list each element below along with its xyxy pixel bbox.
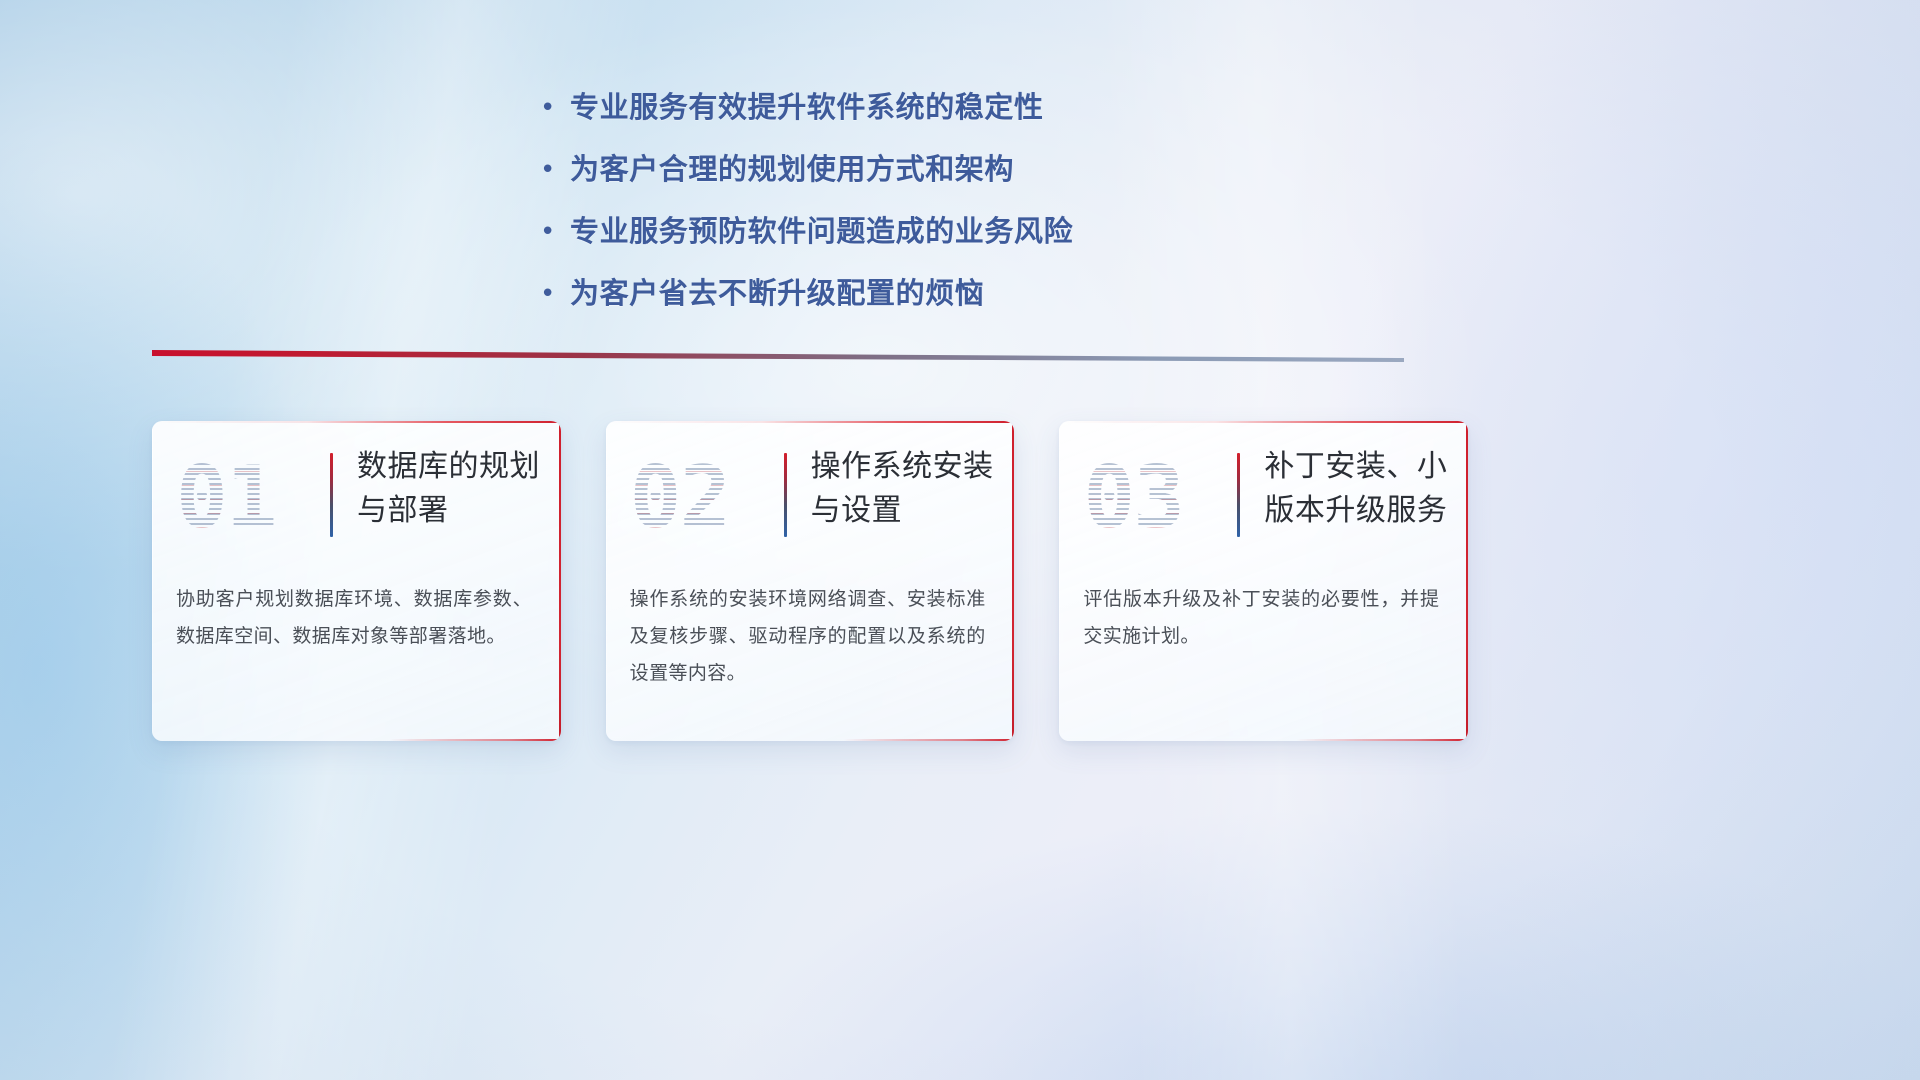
card-title: 操作系统安装与设置 bbox=[811, 445, 1007, 533]
list-item-label: 为客户省去不断升级配置的烦恼 bbox=[570, 274, 984, 314]
list-item: • 专业服务预防软件问题造成的业务风险 bbox=[540, 212, 1380, 252]
service-card-row: 01 01 数据库的规划与部署 协助客户规划数据库环境、数据库参数、数据库空间、… bbox=[152, 421, 1468, 741]
service-card[interactable]: 03 03 补丁安装、小版本升级服务 评估版本升级及补丁安装的必要性，并提交实施… bbox=[1059, 421, 1468, 741]
list-item-label: 为客户合理的规划使用方式和架构 bbox=[570, 150, 1014, 190]
list-item: • 专业服务有效提升软件系统的稳定性 bbox=[540, 88, 1380, 128]
card-header: 01 01 数据库的规划与部署 bbox=[152, 439, 561, 557]
list-item: • 为客户省去不断升级配置的烦恼 bbox=[540, 274, 1380, 314]
card-header: 03 03 补丁安装、小版本升级服务 bbox=[1059, 439, 1468, 557]
bullet-dot-icon: • bbox=[540, 150, 570, 190]
card-description: 协助客户规划数据库环境、数据库参数、数据库空间、数据库对象等部署落地。 bbox=[176, 581, 532, 655]
card-top-accent-line bbox=[606, 421, 1015, 423]
card-bottom-accent-line bbox=[1296, 739, 1468, 741]
service-card[interactable]: 01 01 数据库的规划与部署 协助客户规划数据库环境、数据库参数、数据库空间、… bbox=[152, 421, 561, 741]
card-title-accent-bar bbox=[330, 453, 333, 537]
card-top-accent-line bbox=[1059, 421, 1468, 423]
bullet-dot-icon: • bbox=[540, 88, 570, 128]
card-number-ghost-tint: 03 bbox=[1083, 443, 1183, 553]
list-item: • 为客户合理的规划使用方式和架构 bbox=[540, 150, 1380, 190]
list-item-label: 专业服务预防软件问题造成的业务风险 bbox=[570, 212, 1073, 252]
bullet-dot-icon: • bbox=[540, 274, 570, 314]
card-title: 补丁安装、小版本升级服务 bbox=[1264, 445, 1460, 533]
section-divider bbox=[152, 347, 1404, 363]
section-divider-shape bbox=[152, 347, 1404, 363]
card-description: 评估版本升级及补丁安装的必要性，并提交实施计划。 bbox=[1083, 581, 1439, 655]
card-bottom-accent-line bbox=[389, 739, 561, 741]
card-number-ghost-tint: 01 bbox=[176, 443, 276, 553]
service-card[interactable]: 02 02 操作系统安装与设置 操作系统的安装环境网络调查、安装标准及复核步骤、… bbox=[606, 421, 1015, 741]
list-item-label: 专业服务有效提升软件系统的稳定性 bbox=[570, 88, 1044, 128]
card-top-accent-line bbox=[152, 421, 561, 423]
card-description: 操作系统的安装环境网络调查、安装标准及复核步骤、驱动程序的配置以及系统的设置等内… bbox=[630, 581, 986, 692]
card-title-accent-bar bbox=[1237, 453, 1240, 537]
card-number-ghost-tint: 02 bbox=[630, 443, 730, 553]
card-title-accent-bar bbox=[784, 453, 787, 537]
card-header: 02 02 操作系统安装与设置 bbox=[606, 439, 1015, 557]
card-title: 数据库的规划与部署 bbox=[357, 445, 553, 533]
card-bottom-accent-line bbox=[843, 739, 1015, 741]
benefits-bullet-list: • 专业服务有效提升软件系统的稳定性 • 为客户合理的规划使用方式和架构 • 专… bbox=[540, 88, 1380, 336]
bullet-dot-icon: • bbox=[540, 212, 570, 252]
